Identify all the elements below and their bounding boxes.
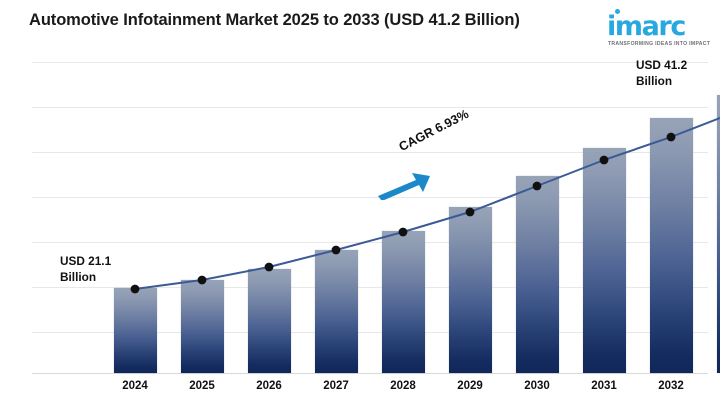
x-label-2033: 2033 [708,380,720,392]
data-point-2024 [131,285,140,294]
x-label-2027: 2027 [306,380,366,392]
x-label-2029: 2029 [440,380,500,392]
logo-wordmark: imarc [607,12,685,41]
data-point-2029 [466,208,475,217]
x-label-2032: 2032 [641,380,701,392]
data-point-2032 [667,133,676,142]
callout-start-line2: Billion [60,270,111,286]
data-point-2026 [265,263,274,272]
cagr-arrow-icon [376,170,432,200]
x-label-2024: 2024 [105,380,165,392]
x-label-2025: 2025 [172,380,232,392]
imarc-logo: imarc TRANSFORMING IDEAS INTO IMPACT [601,8,707,50]
x-label-2031: 2031 [574,380,634,392]
x-label-2028: 2028 [373,380,433,392]
x-label-2026: 2026 [239,380,299,392]
callout-end: USD 41.2 Billion [636,58,687,89]
callout-start-line1: USD 21.1 [60,254,111,270]
infographic-root: Automotive Infotainment Market 2025 to 2… [0,0,720,405]
callout-start: USD 21.1 Billion [60,254,111,285]
trend-line [32,62,708,374]
chart-header: Automotive Infotainment Market 2025 to 2… [0,0,720,62]
x-label-2030: 2030 [507,380,567,392]
data-point-2028 [399,228,408,237]
page-title: Automotive Infotainment Market 2025 to 2… [29,9,589,32]
data-point-2027 [332,246,341,255]
data-point-2025 [198,276,207,285]
callout-end-line2: Billion [636,74,687,90]
data-point-2031 [600,156,609,165]
logo-tagline: TRANSFORMING IDEAS INTO IMPACT [608,41,710,47]
callout-end-line1: USD 41.2 [636,58,687,74]
data-point-2030 [533,182,542,191]
chart-plot-area: CAGR 6.93% USD 21.1 Billion USD 41.2 Bil… [32,62,708,374]
